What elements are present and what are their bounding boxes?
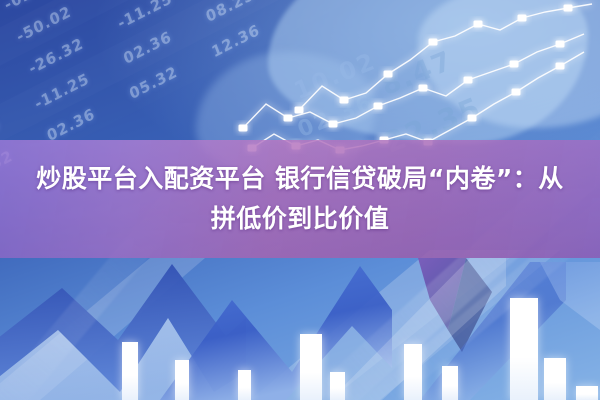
chart-bar	[122, 342, 138, 400]
chart-bar	[404, 344, 422, 400]
ticker-row: -11.25-26.32-11.2550.02	[0, 0, 600, 135]
glow-node	[556, 41, 565, 48]
glow-node	[512, 89, 521, 96]
glow-node	[239, 125, 248, 132]
ticker-value: -50.02	[14, 2, 74, 46]
ticker-value: 12.36	[209, 20, 262, 61]
chart-bar	[300, 334, 322, 400]
headline-line-2: 拼低价到比价值	[211, 199, 390, 239]
glow-node	[556, 63, 565, 70]
chart-bar	[544, 358, 566, 400]
ticker-row: -02.36+45.02-02.361.06	[0, 0, 596, 40]
ticker-value: -26.32	[26, 34, 86, 78]
glow-node	[284, 115, 293, 122]
ticker-value: -26.32	[103, 0, 163, 1]
promo-banner-image: -50.02+45.02-02.3621.08-02.36-50.02+45.0…	[0, 0, 600, 400]
ticker-row: +45.02-11.25+45.0210.02	[0, 0, 584, 8]
chart-bar	[175, 360, 189, 400]
glow-node	[474, 21, 483, 28]
chart-bar	[442, 366, 458, 400]
chart-bar	[238, 370, 251, 400]
glow-node	[429, 39, 438, 46]
ticker-value: 05.32	[127, 62, 180, 103]
glow-node	[518, 15, 527, 22]
ticker-row: -50.02-02.36-50.0222.36	[0, 0, 600, 71]
headline-line-1: 炒股平台入配资平台 银行信贷破局“内卷”：从	[36, 159, 564, 199]
headline-band: 炒股平台入配资平台 银行信贷破局“内卷”：从 拼低价到比价值	[0, 140, 600, 258]
chart-bar	[576, 386, 598, 400]
ticker-value: -11.25	[32, 69, 92, 113]
glow-node	[564, 5, 573, 12]
ticker-value: 02.36	[121, 27, 174, 68]
ticker-value: -02.36	[2, 0, 62, 14]
ticker-value: -11.25	[115, 0, 175, 33]
ticker-value: 08.25	[203, 0, 256, 26]
chart-bar	[510, 298, 538, 400]
glow-node	[464, 77, 473, 84]
glow-node	[510, 61, 519, 68]
chart-bar	[330, 372, 345, 400]
ghost-number-1: 8.47	[377, 45, 458, 102]
glow-node	[295, 107, 304, 114]
